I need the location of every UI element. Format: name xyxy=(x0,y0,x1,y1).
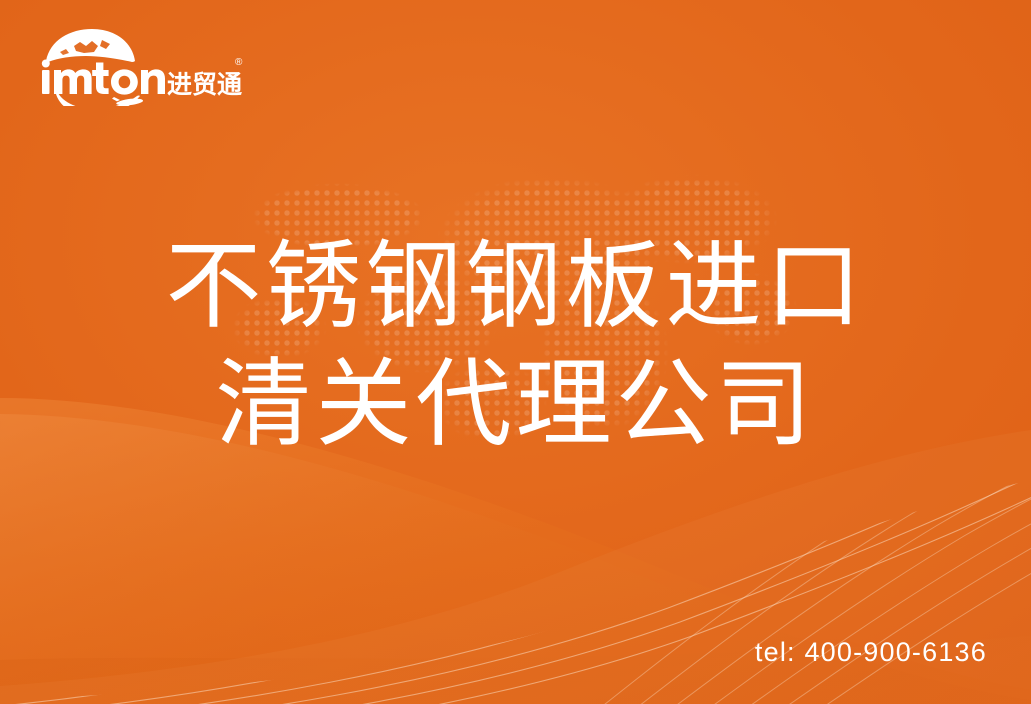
registered-trademark-icon: ® xyxy=(235,57,243,68)
headline: 不锈钢钢板进口 清关代理公司 xyxy=(0,228,1031,464)
headline-line-2: 清关代理公司 xyxy=(0,346,1031,464)
brand-logo[interactable]: 进贸通 ® xyxy=(36,28,246,106)
contact-phone[interactable]: tel: 400-900-6136 xyxy=(755,637,987,668)
airplane-swoosh-icon xyxy=(56,93,143,106)
imton-wordmark xyxy=(42,60,165,95)
headline-line-1: 不锈钢钢板进口 xyxy=(0,228,1031,346)
promo-banner: 进贸通 ® 不锈钢钢板进口 清关代理公司 tel: 400-900-6136 xyxy=(0,0,1031,704)
logo-chinese-name: 进贸通 xyxy=(167,70,242,99)
globe-arc-icon xyxy=(46,29,135,62)
